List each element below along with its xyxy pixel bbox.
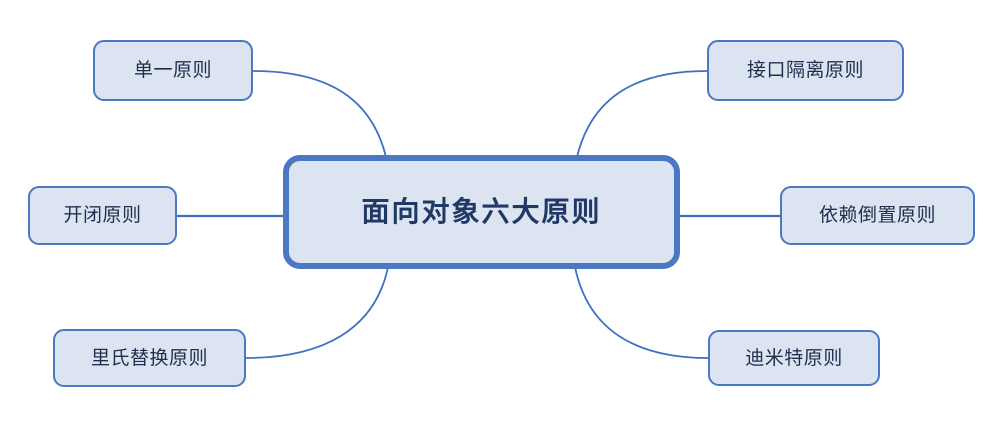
- center-node-label: 面向对象六大原则: [361, 198, 601, 226]
- edge-center-to-demeter: [575, 267, 709, 358]
- edge-center-to-single: [253, 71, 386, 157]
- node-liskov-substitution-label: 里氏替换原则: [91, 349, 208, 368]
- node-dependency-inversion[interactable]: 依赖倒置原则: [780, 186, 975, 245]
- mindmap-canvas: 面向对象六大原则 单一原则 接口隔离原则 开闭原则 依赖倒置原则 里氏替换原则 …: [0, 0, 1000, 430]
- node-dependency-inversion-label: 依赖倒置原则: [819, 206, 936, 225]
- edge-center-to-interface: [577, 71, 707, 157]
- edge-center-to-liskov: [246, 267, 388, 358]
- center-node[interactable]: 面向对象六大原则: [283, 155, 680, 269]
- node-liskov-substitution[interactable]: 里氏替换原则: [53, 329, 246, 387]
- node-single-label: 单一原则: [134, 61, 212, 80]
- node-single[interactable]: 单一原则: [93, 40, 253, 101]
- node-interface-segregation-label: 接口隔离原则: [747, 61, 864, 80]
- node-open-closed[interactable]: 开闭原则: [28, 186, 177, 245]
- node-interface-segregation[interactable]: 接口隔离原则: [707, 40, 904, 101]
- node-law-of-demeter-label: 迪米特原则: [745, 349, 843, 368]
- node-law-of-demeter[interactable]: 迪米特原则: [708, 330, 880, 386]
- node-open-closed-label: 开闭原则: [63, 206, 141, 225]
